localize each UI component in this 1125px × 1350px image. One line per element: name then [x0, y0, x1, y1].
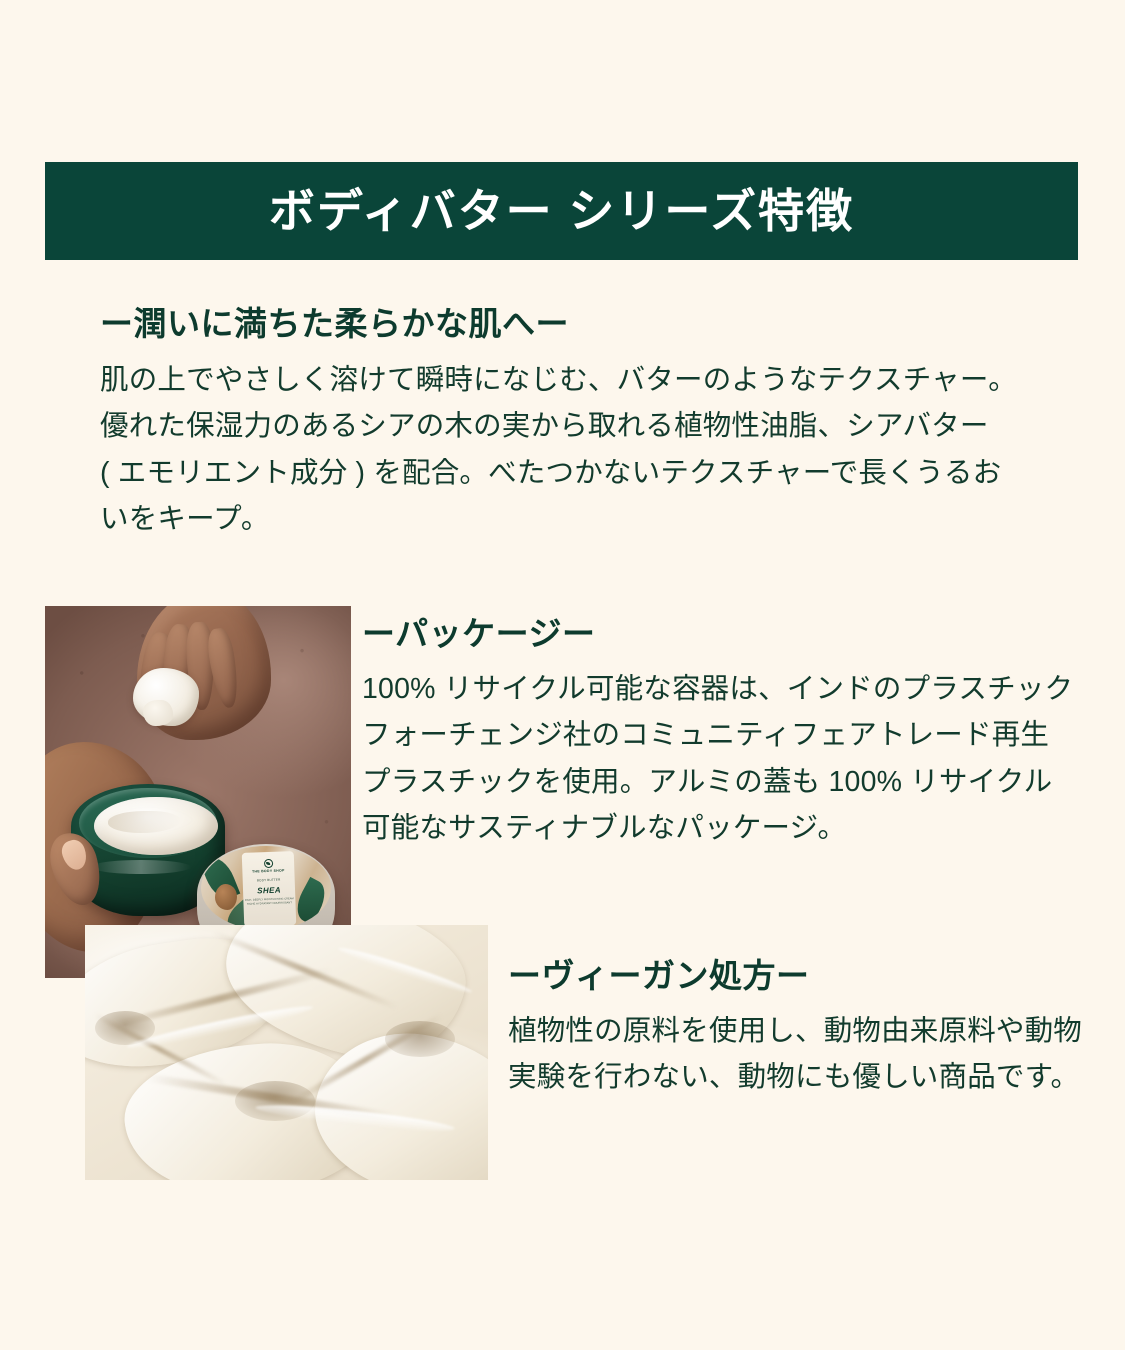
section-vegan-heading: ーヴィーガン処方ー	[508, 955, 1090, 996]
photo-butter-texture	[85, 925, 488, 1180]
lid-variant-name: SHEA	[257, 885, 281, 895]
brand-logo-icon	[263, 859, 272, 868]
section-moisture-heading: ー潤いに満ちた柔らかな肌へー	[100, 303, 1090, 344]
section-moisture-line-1: 肌の上でやさしく溶けて瞬時になじむ、バターのようなテクスチャー。	[100, 357, 1090, 403]
section-moisture: ー潤いに満ちた柔らかな肌へー 肌の上でやさしく溶けて瞬時になじむ、バターのような…	[100, 303, 1090, 542]
lid-brand-name: THE BODY SHOP	[252, 869, 285, 874]
lid-product-line: BODY BUTTER	[257, 878, 281, 883]
page-title-banner: ボディバター シリーズ特徴	[45, 162, 1078, 260]
section-package-body: 100% リサイクル可能な容器は、インドのプラスチック フォーチェンジ社のコミュ…	[362, 666, 1090, 851]
section-moisture-line-2: 優れた保湿力のあるシアの木の実から取れる植物性油脂、シアバター	[100, 403, 1090, 449]
section-vegan-body: 植物性の原料を使用し、動物由来原料や動物 実験を行わない、動物にも優しい商品です…	[508, 1008, 1090, 1100]
section-vegan-line-2: 実験を行わない、動物にも優しい商品です。	[508, 1054, 1090, 1100]
section-package-heading: ーパッケージー	[362, 613, 1090, 654]
lid-label: THE BODY SHOP BODY BUTTER SHEA RICH, DEE…	[242, 851, 297, 927]
section-package-line-2: フォーチェンジ社のコミュニティフェアトレード再生	[362, 712, 1090, 758]
jar-highlight	[91, 860, 191, 874]
photo-hands-with-jar: THE BODY SHOP BODY BUTTER SHEA RICH, DEE…	[45, 606, 351, 978]
section-moisture-line-3: ( エモリエント成分 ) を配合。べたつかないテクスチャーで長くうるお	[100, 450, 1090, 496]
section-package-line-3: プラスチックを使用。アルミの蓋も 100% リサイクル	[362, 759, 1090, 805]
lid-artwork: THE BODY SHOP BODY BUTTER SHEA RICH, DEE…	[201, 846, 331, 930]
section-moisture-body: 肌の上でやさしく溶けて瞬時になじむ、バターのようなテクスチャー。 優れた保湿力の…	[100, 357, 1090, 542]
section-package: ーパッケージー 100% リサイクル可能な容器は、インドのプラスチック フォーチ…	[362, 613, 1090, 851]
product-feature-page: ボディバター シリーズ特徴 ー潤いに満ちた柔らかな肌へー 肌の上でやさしく溶けて…	[0, 0, 1125, 1350]
leaf-icon	[291, 877, 331, 925]
section-package-line-1: 100% リサイクル可能な容器は、インドのプラスチック	[362, 666, 1090, 712]
jar-rim	[79, 788, 217, 858]
page-title: ボディバター シリーズ特徴	[269, 188, 854, 234]
shea-nut-icon	[215, 884, 237, 910]
section-vegan: ーヴィーガン処方ー 植物性の原料を使用し、動物由来原料や動物 実験を行わない、動…	[508, 955, 1090, 1101]
section-vegan-line-1: 植物性の原料を使用し、動物由来原料や動物	[508, 1008, 1090, 1054]
jar-cream-surface	[94, 797, 218, 855]
lid-description: RICH, DEEPLY MOISTURISING CREAM RICHE HY…	[243, 897, 295, 907]
cream-dollop	[133, 668, 199, 726]
section-moisture-line-4: いをキープ。	[100, 496, 1090, 542]
section-package-line-4: 可能なサスティナブルなパッケージ。	[362, 805, 1090, 851]
